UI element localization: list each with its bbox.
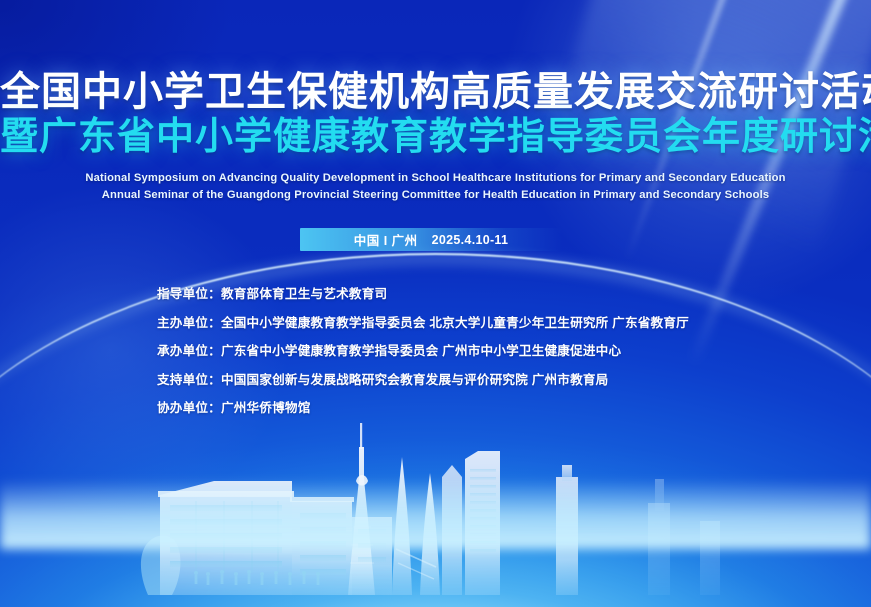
organizer-label: 协办单位：: [157, 402, 221, 415]
organizer-value: 广州华侨博物馆: [221, 402, 311, 415]
conference-poster: 全国中小学卫生保健机构高质量发展交流研讨活动 暨广东省中小学健康教育教学指导委员…: [0, 0, 871, 607]
organizer-value: 教育部体育卫生与艺术教育司: [221, 288, 387, 301]
organizer-value: 广东省中小学健康教育教学指导委员会 广州市中小学卫生健康促进中心: [221, 345, 621, 358]
title-block: 全国中小学卫生保健机构高质量发展交流研讨活动 暨广东省中小学健康教育教学指导委员…: [0, 72, 871, 203]
event-location: 中国 I 广州: [354, 230, 418, 249]
organizer-row: 支持单位： 中国国家创新与发展战略研究会教育发展与评价研究院 广州市教育局: [157, 374, 689, 387]
english-subtitle-1: National Symposium on Advancing Quality …: [0, 170, 871, 186]
english-subtitle-2: Annual Seminar of the Guangdong Provinci…: [0, 187, 871, 203]
event-info-banner: 中国 I 广州 2025.4.10-11: [300, 228, 562, 251]
organizer-row: 指导单位： 教育部体育卫生与艺术教育司: [157, 288, 689, 301]
organizer-row: 协办单位： 广州华侨博物馆: [157, 402, 689, 415]
organizer-label: 指导单位：: [157, 288, 221, 301]
organizer-label: 承办单位：: [157, 345, 221, 358]
title-line-2: 暨广东省中小学健康教育教学指导委员会年度研讨活动: [0, 118, 871, 157]
organizer-value: 全国中小学健康教育教学指导委员会 北京大学儿童青少年卫生研究所 广东省教育厅: [221, 317, 689, 330]
title-line-1: 全国中小学卫生保健机构高质量发展交流研讨活动: [0, 72, 871, 113]
event-date: 2025.4.10-11: [432, 233, 509, 247]
organizer-label: 支持单位：: [157, 374, 221, 387]
organizer-list: 指导单位： 教育部体育卫生与艺术教育司 主办单位： 全国中小学健康教育教学指导委…: [157, 288, 689, 431]
organizer-row: 主办单位： 全国中小学健康教育教学指导委员会 北京大学儿童青少年卫生研究所 广东…: [157, 317, 689, 330]
organizer-label: 主办单位：: [157, 317, 221, 330]
organizer-value: 中国国家创新与发展战略研究会教育发展与评价研究院 广州市教育局: [221, 374, 609, 387]
organizer-row: 承办单位： 广东省中小学健康教育教学指导委员会 广州市中小学卫生健康促进中心: [157, 345, 689, 358]
